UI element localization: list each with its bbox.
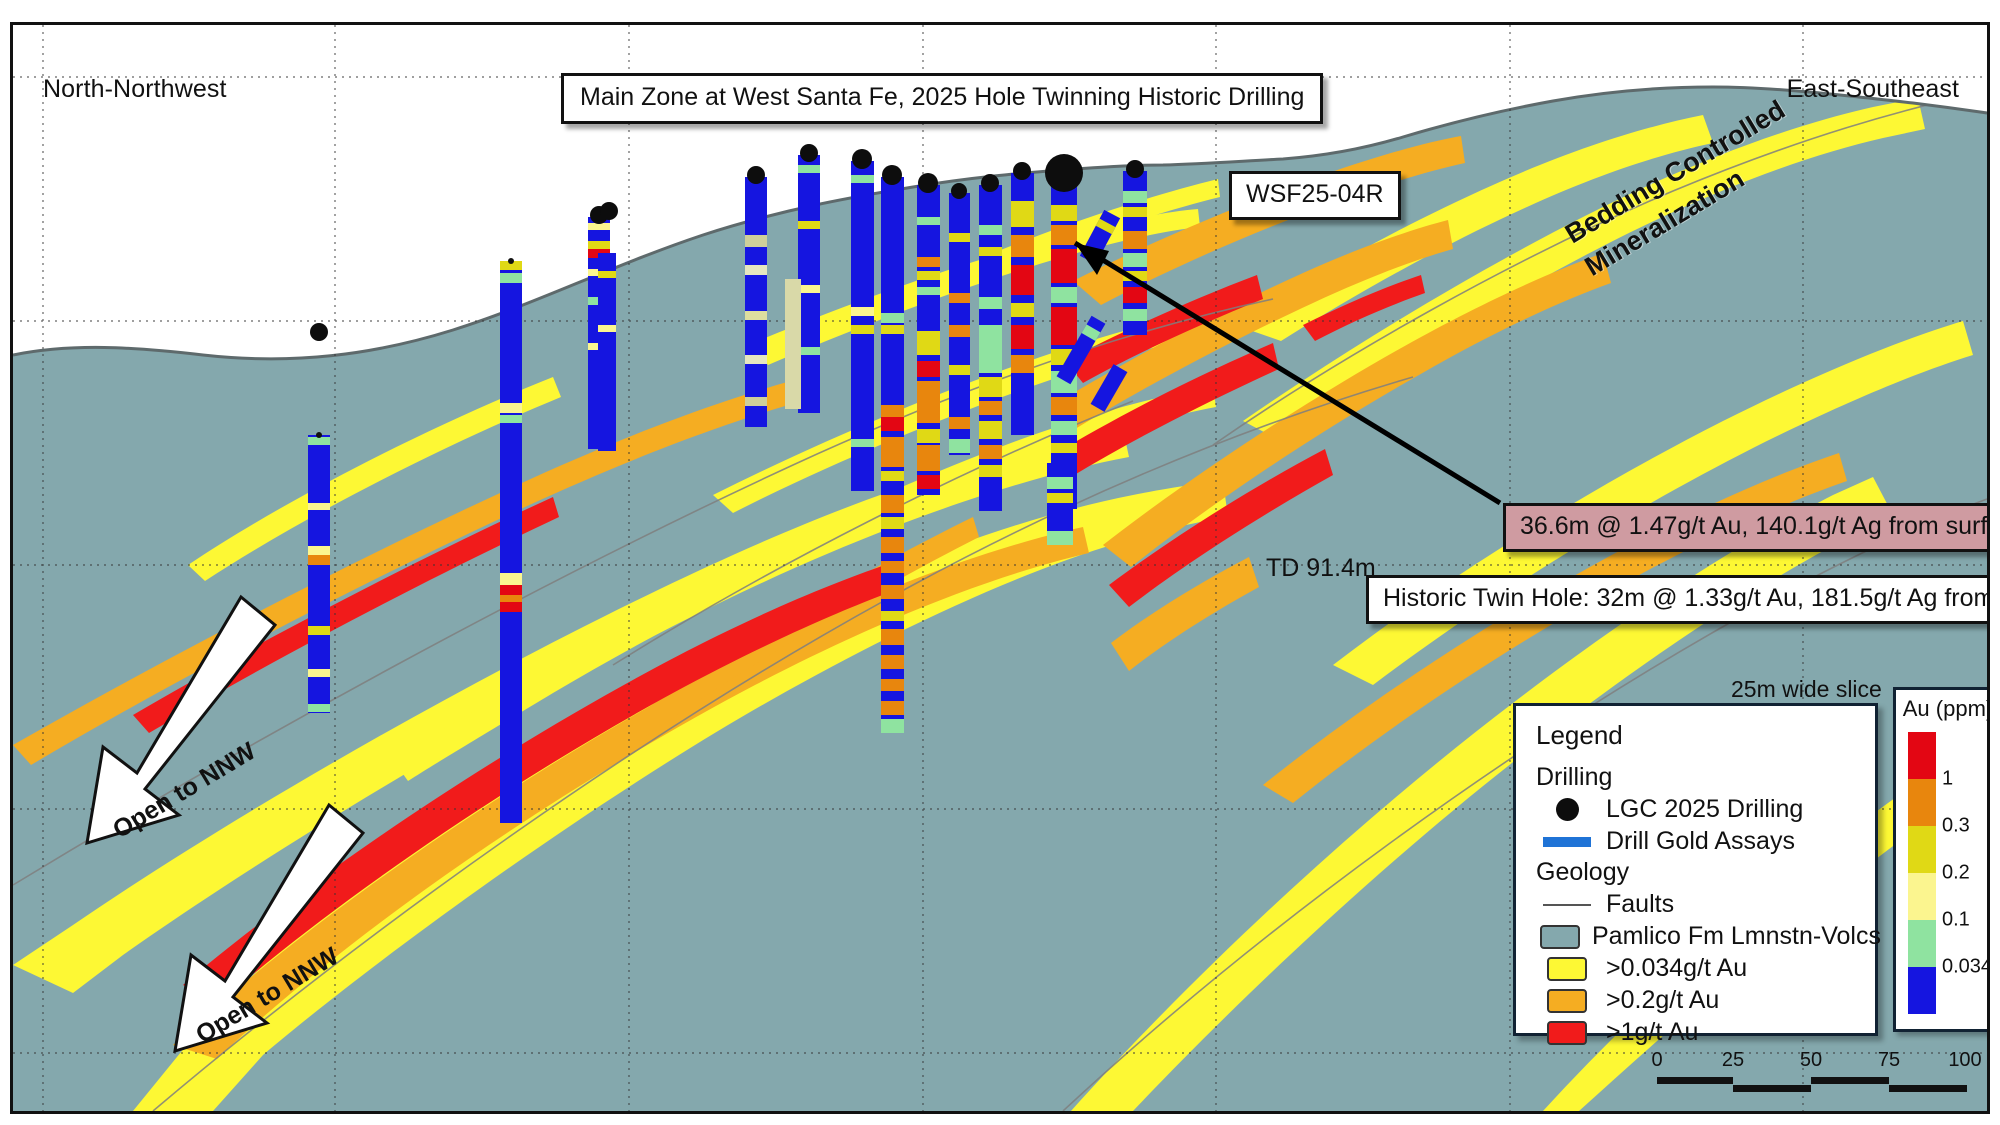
scale-tick: 0 [1651, 1049, 1662, 1072]
collar-dot-icon [600, 202, 618, 220]
swatch-icon [1540, 1021, 1594, 1045]
direction-label-left: North-Northwest [43, 75, 227, 104]
swatch-icon [1540, 925, 1580, 949]
au-colorbar: Au (ppm) 1 0.3 0.2 0.1 0.034 [1893, 687, 1990, 1032]
drillhole-trace[interactable] [917, 173, 940, 495]
scale-tick: 100 [1948, 1049, 1981, 1072]
collar-dot-icon [1540, 798, 1594, 821]
section-frame: North-Northwest East-Southeast Bedding C… [10, 22, 1990, 1114]
legend-item-pamlico-fm: Pamlico Fm Lmnstn-Volcs [1540, 921, 1861, 952]
colorbar-gradient [1908, 732, 1936, 1014]
intercept-historic-callout: Historic Twin Hole: 32m @ 1.33g/t Au, 18… [1366, 575, 1990, 624]
scale-tick: 25 [1722, 1049, 1744, 1072]
colorbar-tick: 0.1 [1942, 909, 1970, 932]
cross-section-figure: North-Northwest East-Southeast Bedding C… [0, 0, 2000, 1125]
colorbar-title: Au (ppm) [1896, 696, 1990, 722]
legend-item-grade-1: >1g/t Au [1540, 1017, 1861, 1048]
intercept-2025-callout: 36.6m @ 1.47g/t Au, 140.1g/t Ag from sur… [1503, 503, 1990, 552]
legend-item-grade-02: >0.2g/t Au [1540, 985, 1861, 1016]
drillhole-trace[interactable] [785, 279, 801, 409]
colorbar-tick: 0.3 [1942, 815, 1970, 838]
drillhole-trace[interactable] [881, 165, 904, 733]
slice-width-label: 25m wide slice [1731, 676, 1882, 703]
scale-bar: 0 25 50 75 100 [1653, 1049, 1971, 1099]
td-depth-label: TD 91.4m [1266, 554, 1376, 583]
drillhole-trace[interactable] [798, 144, 820, 413]
legend-item-grade-0034: >0.034g/t Au [1540, 953, 1861, 984]
drillhole-trace[interactable] [979, 174, 1002, 511]
swatch-icon [1540, 957, 1594, 981]
drillhole-trace[interactable] [308, 432, 330, 713]
scale-tick: 75 [1878, 1049, 1900, 1072]
drillhole-trace[interactable] [598, 253, 616, 451]
colorbar-tick: 0.2 [1942, 862, 1970, 885]
direction-label-right: East-Southeast [1787, 75, 1959, 104]
figure-title-box: Main Zone at West Santa Fe, 2025 Hole Tw… [561, 73, 1323, 124]
legend-group-geology: Geology [1536, 858, 1861, 887]
collar-dot-icon [310, 323, 328, 341]
drillhole-name-label: WSF25-04R [1229, 171, 1401, 220]
legend-item-lgc-2025-drilling: LGC 2025 Drilling [1540, 794, 1861, 825]
drillhole-trace[interactable] [851, 149, 874, 491]
legend-panel: Legend Drilling LGC 2025 Drilling Drill … [1513, 703, 1878, 1036]
colorbar-tick: 0.034 [1942, 956, 1990, 979]
legend-item-faults: Faults [1540, 889, 1861, 920]
scale-tick: 50 [1800, 1049, 1822, 1072]
swatch-icon [1540, 989, 1594, 1013]
colorbar-tick: 1 [1942, 768, 1953, 791]
fault-line-icon [1540, 904, 1594, 906]
legend-title: Legend [1536, 720, 1861, 751]
drillhole-trace[interactable] [949, 183, 970, 455]
drillhole-trace[interactable] [1123, 160, 1147, 335]
drillhole-trace[interactable] [500, 258, 522, 823]
legend-group-drilling: Drilling [1536, 763, 1861, 792]
drillhole-trace[interactable] [1011, 162, 1034, 435]
legend-item-drill-gold-assays: Drill Gold Assays [1540, 826, 1861, 857]
drillhole-trace[interactable] [745, 166, 767, 427]
colorbar-ticks: 1 0.3 0.2 0.1 0.034 [1942, 732, 1990, 1014]
assay-bar-icon [1540, 837, 1594, 847]
